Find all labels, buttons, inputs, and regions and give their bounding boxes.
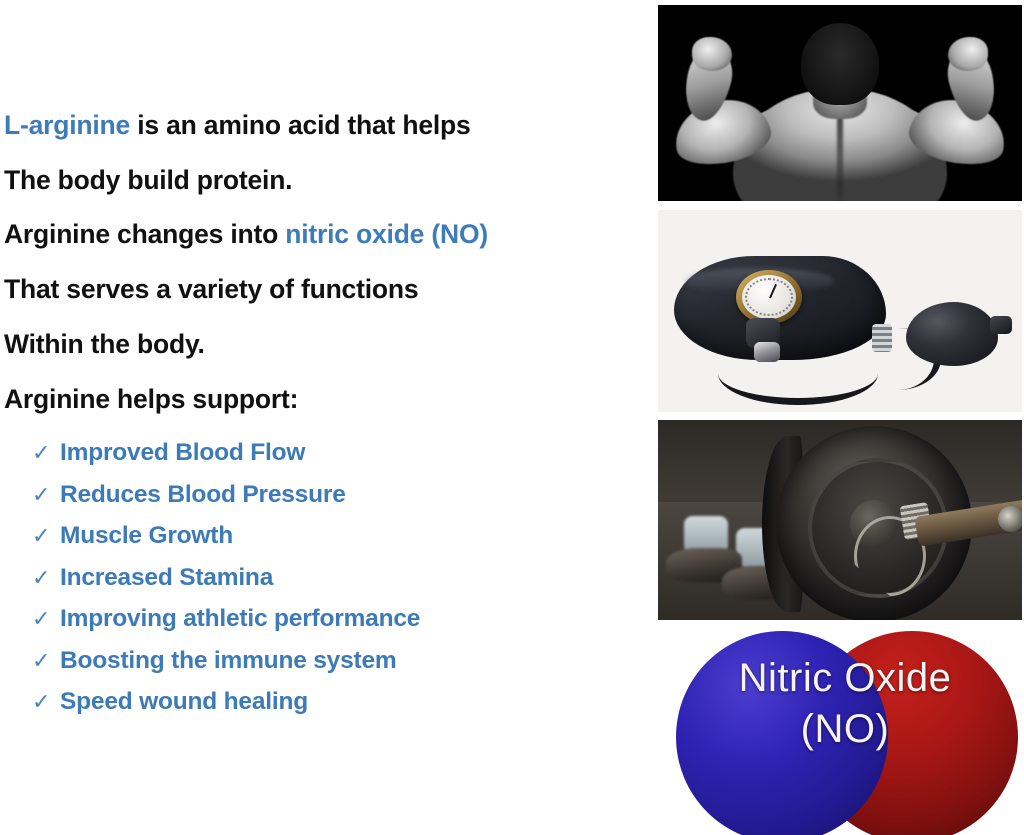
gauge-face bbox=[742, 275, 796, 319]
benefit-label: Reduces Blood Pressure bbox=[60, 483, 346, 508]
benefit-label: Increased Stamina bbox=[60, 566, 273, 591]
paragraph-line-4: That serves a variety of functions bbox=[4, 276, 418, 303]
list-item: ✓ Reduces Blood Pressure bbox=[32, 483, 592, 525]
benefit-label: Improving athletic performance bbox=[60, 607, 420, 632]
paragraph-line-3: Arginine changes into nitric oxide (NO) bbox=[4, 221, 488, 248]
paragraph-line-1-rest: is an amino acid that helps bbox=[130, 110, 470, 140]
check-icon: ✓ bbox=[32, 608, 60, 630]
list-item: ✓ Improved Blood Flow bbox=[32, 441, 592, 483]
list-item: ✓ Boosting the immune system bbox=[32, 649, 592, 691]
blood-pressure-cuff-image bbox=[658, 210, 1022, 412]
paragraph-line-6-text: Arginine helps support: bbox=[4, 384, 298, 414]
bulb-release-valve bbox=[990, 316, 1012, 334]
check-icon: ✓ bbox=[32, 484, 60, 506]
text-column: L-arginine is an amino acid that helps T… bbox=[0, 0, 650, 835]
paragraph-line-2: The body build protein. bbox=[4, 167, 292, 194]
barbell-illustration bbox=[658, 420, 1022, 620]
fist bbox=[948, 37, 988, 71]
paragraph-line-5-text: Within the body. bbox=[4, 329, 205, 359]
paragraph-line-4-text: That serves a variety of functions bbox=[4, 274, 418, 304]
chrome-fitting bbox=[754, 342, 780, 362]
benefit-label: Speed wound healing bbox=[60, 690, 308, 715]
benefit-label: Muscle Growth bbox=[60, 524, 233, 549]
blood-pressure-illustration bbox=[658, 210, 1022, 412]
benefit-label: Boosting the immune system bbox=[60, 649, 397, 674]
benefit-label: Improved Blood Flow bbox=[60, 441, 305, 466]
list-item: ✓ Speed wound healing bbox=[32, 690, 592, 732]
paragraph-line-3-lead: Arginine changes into bbox=[4, 219, 285, 249]
list-item: ✓ Increased Stamina bbox=[32, 566, 592, 608]
list-item: ✓ Improving athletic performance bbox=[32, 607, 592, 649]
nitric-oxide-caption-line-2: (NO) bbox=[668, 704, 1022, 755]
slide-canvas: L-arginine is an amino acid that helps T… bbox=[0, 0, 1024, 835]
paragraph-line-1: L-arginine is an amino acid that helps bbox=[4, 112, 471, 139]
arm-right bbox=[908, 35, 1016, 185]
nitric-oxide-molecule-image: Nitric Oxide (NO) bbox=[658, 629, 1022, 835]
check-icon: ✓ bbox=[32, 650, 60, 672]
paragraph-line-6: Arginine helps support: bbox=[4, 386, 298, 413]
nitric-oxide-caption: Nitric Oxide (NO) bbox=[658, 653, 1022, 755]
paragraph-line-2-text: The body build protein. bbox=[4, 165, 292, 195]
pressure-gauge bbox=[736, 270, 802, 324]
term-nitric-oxide: nitric oxide (NO) bbox=[285, 219, 488, 249]
paragraph-line-5: Within the body. bbox=[4, 331, 205, 358]
head bbox=[801, 23, 879, 105]
fist bbox=[692, 37, 732, 71]
check-icon: ✓ bbox=[32, 442, 60, 464]
arm-left bbox=[664, 35, 772, 185]
check-icon: ✓ bbox=[32, 567, 60, 589]
check-icon: ✓ bbox=[32, 691, 60, 713]
bodybuilder-illustration bbox=[658, 5, 1022, 201]
tube-clamp bbox=[872, 324, 892, 352]
list-item: ✓ Muscle Growth bbox=[32, 524, 592, 566]
inflation-bulb bbox=[906, 302, 998, 366]
bodybuilder-back-pose-image bbox=[658, 5, 1022, 201]
nitric-oxide-illustration: Nitric Oxide (NO) bbox=[658, 629, 1022, 835]
image-column: Nitric Oxide (NO) bbox=[655, 0, 1024, 835]
nitric-oxide-caption-line-1: Nitric Oxide bbox=[668, 653, 1022, 704]
term-l-arginine: L-arginine bbox=[4, 110, 130, 140]
benefit-list: ✓ Improved Blood Flow ✓ Reduces Blood Pr… bbox=[32, 441, 592, 732]
barbell-weight-plate-image bbox=[658, 420, 1022, 620]
check-icon: ✓ bbox=[32, 525, 60, 547]
